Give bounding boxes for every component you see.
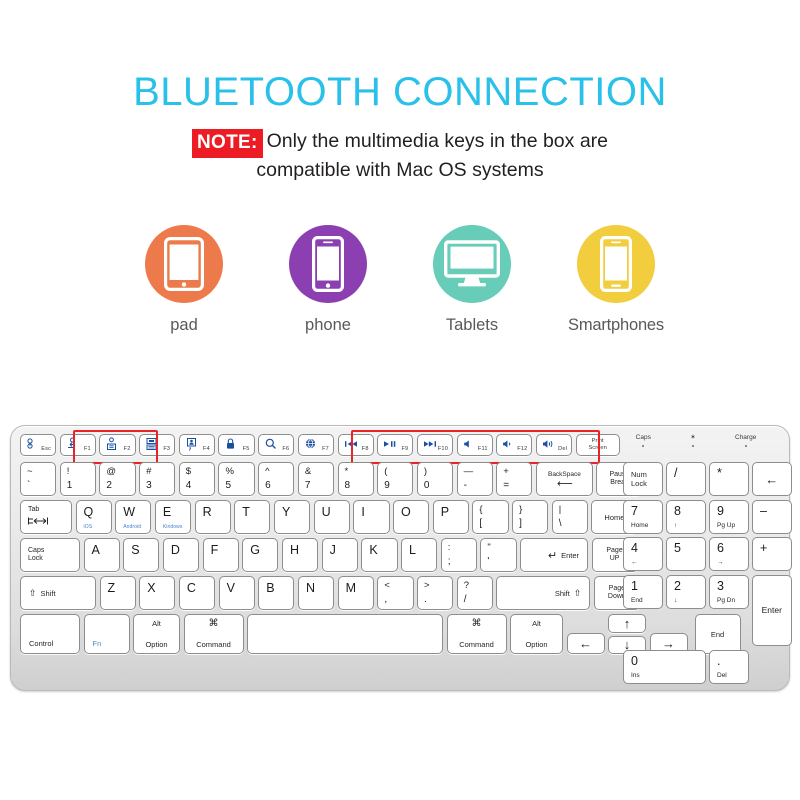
key-command-right[interactable]: ⌘Command bbox=[447, 614, 507, 654]
key-numpad-backspace[interactable]: ← bbox=[752, 462, 792, 496]
key-top-1: ! bbox=[67, 466, 95, 477]
arrow-left-icon: ← bbox=[568, 634, 604, 653]
key-numpad-plus[interactable]: + bbox=[752, 537, 792, 571]
key-numpad-2[interactable]: 2↓ bbox=[666, 575, 706, 609]
key-f5[interactable]: F5 bbox=[218, 434, 254, 456]
shift-arrow-icon-right: ⇧ bbox=[574, 588, 582, 599]
indicator-label-charge: Charge bbox=[735, 434, 756, 442]
key-bottom-slash: / bbox=[464, 594, 492, 609]
backspace-arrow-icon-np: ← bbox=[753, 463, 791, 495]
bluetooth-keyboard: Esc F1 F2 F3 bbox=[10, 425, 790, 691]
key-label-enter: Enter bbox=[561, 551, 579, 560]
key-label-alt-left: Alt bbox=[152, 619, 161, 628]
key-cap-v: V bbox=[220, 577, 254, 609]
key-top-bracket-right: } bbox=[519, 504, 547, 515]
key-numpad-period[interactable]: .Del bbox=[709, 650, 749, 684]
device-item-smartphones: Smartphones bbox=[568, 225, 664, 335]
indicator-label-caps: Caps bbox=[636, 434, 651, 442]
play-pause-icon bbox=[383, 439, 396, 451]
key-backslash[interactable]: |\ bbox=[552, 500, 588, 534]
key-label-command-left: Command bbox=[196, 640, 231, 649]
key-7[interactable]: &7 bbox=[298, 462, 334, 496]
key-u[interactable]: U bbox=[314, 500, 350, 534]
key-label-del: Del bbox=[558, 446, 567, 452]
key-cap-3: 3 bbox=[717, 579, 724, 593]
key-bottom-7: 7 bbox=[305, 480, 333, 495]
key-backtick[interactable]: ~` bbox=[20, 462, 56, 496]
key-label-f9: F9 bbox=[401, 446, 408, 452]
search-icon bbox=[264, 437, 277, 453]
key-backspace[interactable]: BackSpace⟵ bbox=[536, 462, 593, 496]
key-cap-0: 0 bbox=[631, 654, 638, 668]
key-bottom-backtick: ` bbox=[27, 480, 55, 495]
key-cap-y: Y bbox=[275, 501, 309, 533]
key-label-f3: F3 bbox=[163, 446, 170, 452]
key-numpad-enter[interactable]: Enter bbox=[752, 575, 792, 647]
key-top-minus: — bbox=[464, 466, 492, 477]
key-cap-d: D bbox=[164, 539, 198, 571]
key-alt-option-left[interactable]: AltOption bbox=[133, 614, 180, 654]
keyboard-toggle-icon bbox=[145, 437, 158, 453]
key-cap-x: X bbox=[140, 577, 174, 609]
smartphone-icon-disc-2 bbox=[577, 225, 655, 303]
key-top-5: % bbox=[225, 466, 253, 477]
key-sub-ins: Ins bbox=[631, 672, 640, 680]
key-equals[interactable]: += bbox=[496, 462, 532, 496]
key-bottom-0: 0 bbox=[424, 480, 452, 495]
key-cap-b: B bbox=[259, 577, 293, 609]
key-numpad-divide[interactable]: / bbox=[666, 462, 706, 496]
key-top-3: # bbox=[146, 466, 174, 477]
key-label-option-left: Option bbox=[145, 640, 167, 649]
numpad-row-4: 1End 2↓ 3Pg Dn Enter bbox=[623, 575, 792, 647]
key-label-command-right: Command bbox=[459, 640, 494, 649]
key-label-print-line2: Screen bbox=[588, 445, 606, 452]
monitor-icon bbox=[444, 240, 500, 288]
key-bottom-9: 9 bbox=[384, 480, 412, 495]
key-bottom-minus: - bbox=[464, 480, 492, 495]
key-sub-del: Del bbox=[717, 672, 727, 680]
key-cap-2: 2 bbox=[674, 579, 681, 593]
key-cap-h: H bbox=[283, 539, 317, 571]
key-2[interactable]: @2 bbox=[99, 462, 135, 496]
key-cap-i: I bbox=[354, 501, 388, 533]
key-bottom-6: 6 bbox=[265, 480, 293, 495]
key-1[interactable]: !1 bbox=[60, 462, 96, 496]
key-s[interactable]: S bbox=[123, 538, 159, 572]
key-k[interactable]: K bbox=[361, 538, 397, 572]
key-f4[interactable]: F4 bbox=[179, 434, 215, 456]
key-i[interactable]: I bbox=[353, 500, 389, 534]
key-bracket-left[interactable]: {[ bbox=[472, 500, 508, 534]
key-r[interactable]: R bbox=[195, 500, 231, 534]
key-space[interactable] bbox=[247, 614, 443, 654]
key-print-screen[interactable]: Print Screen bbox=[576, 434, 620, 456]
contacts-icon bbox=[185, 437, 198, 453]
key-bottom-equals: = bbox=[503, 480, 531, 495]
key-comma[interactable]: <, bbox=[377, 576, 413, 610]
key-6[interactable]: ^6 bbox=[258, 462, 294, 496]
indicator-charge: Charge bbox=[735, 434, 756, 447]
command-icon-left: ⌘ bbox=[209, 619, 219, 629]
key-cap-n: N bbox=[299, 577, 333, 609]
number-key-row: ~` !1 @2 #3 $4 %5 ^6 &7 *8 (9 )0 —- += B… bbox=[20, 462, 642, 496]
key-cap-q: Q bbox=[77, 501, 111, 533]
key-sub-end: End bbox=[631, 597, 643, 605]
key-label-control: Control bbox=[21, 615, 79, 653]
key-sub-arrow-up: ↑ bbox=[674, 522, 677, 530]
key-z[interactable]: Z bbox=[100, 576, 136, 610]
device-item-phone: phone bbox=[280, 225, 376, 335]
key-top-6: ^ bbox=[265, 466, 293, 477]
key-sub-pgup: Pg Up bbox=[717, 522, 735, 530]
key-sub-ios: iOS bbox=[84, 524, 93, 530]
smartphone-icon-disc bbox=[289, 225, 367, 303]
key-numpad-7[interactable]: 7Home bbox=[623, 500, 663, 534]
key-cap-z: Z bbox=[101, 577, 135, 609]
key-bottom-semicolon: ; bbox=[448, 556, 476, 571]
key-f6[interactable]: F6 bbox=[258, 434, 294, 456]
numpad-row-3: 4← 5 6→ + bbox=[623, 537, 792, 571]
key-cap-r: R bbox=[196, 501, 230, 533]
power-icon bbox=[26, 438, 39, 452]
key-t[interactable]: T bbox=[234, 500, 270, 534]
key-label-f1: F1 bbox=[84, 446, 91, 452]
key-bottom-comma: , bbox=[384, 594, 412, 609]
key-o[interactable]: O bbox=[393, 500, 429, 534]
key-cap-u: U bbox=[315, 501, 349, 533]
product-infographic: BLUETOOTH CONNECTION NOTE:Only the multi… bbox=[0, 0, 800, 800]
key-label-num: Num bbox=[631, 470, 647, 480]
key-label-page: Page bbox=[606, 547, 622, 556]
key-semicolon[interactable]: :; bbox=[441, 538, 477, 572]
smartphone-icon bbox=[312, 236, 344, 292]
key-top-question: ? bbox=[464, 580, 492, 591]
key-bottom-4: 4 bbox=[186, 480, 214, 495]
key-y[interactable]: Y bbox=[274, 500, 310, 534]
key-h[interactable]: H bbox=[282, 538, 318, 572]
home-key-row: CapsLock A S D F G H J K L :; "' ↵ Enter… bbox=[20, 538, 638, 572]
key-esc[interactable]: Esc bbox=[20, 434, 56, 456]
key-top-colon: : bbox=[448, 542, 476, 553]
key-cap-numpad-minus: – bbox=[760, 504, 767, 518]
lock-icon bbox=[224, 437, 237, 453]
key-arrow-left[interactable]: ← bbox=[567, 633, 605, 654]
key-numpad-6[interactable]: 6→ bbox=[709, 537, 749, 571]
key-label-option-right: Option bbox=[525, 640, 547, 649]
device-label-smartphones: Smartphones bbox=[568, 316, 664, 335]
key-c[interactable]: C bbox=[179, 576, 215, 610]
device-item-pad: pad bbox=[136, 225, 232, 335]
key-f7[interactable]: F7 bbox=[298, 434, 334, 456]
key-cap-multiply: * bbox=[717, 466, 722, 480]
key-5[interactable]: %5 bbox=[218, 462, 254, 496]
key-cap-a: A bbox=[85, 539, 119, 571]
key-f3[interactable]: F3 bbox=[139, 434, 175, 456]
note-block: NOTE:Only the multimedia keys in the box… bbox=[0, 128, 800, 183]
key-top-backtick: ~ bbox=[27, 466, 55, 477]
device-item-tablets: Tablets bbox=[424, 225, 520, 335]
key-label-shift-right: Shift bbox=[555, 589, 570, 598]
key-top-0: ) bbox=[424, 466, 452, 477]
indicator-dot-charge bbox=[745, 445, 747, 447]
key-cap-divide: / bbox=[674, 466, 677, 480]
key-bottom-bracket-left: [ bbox=[479, 518, 507, 533]
key-top-lessthan: < bbox=[384, 580, 412, 591]
key-bottom-bracket-right: ] bbox=[519, 518, 547, 533]
device-label-pad: pad bbox=[170, 316, 198, 335]
indicator-caps: Caps bbox=[636, 434, 651, 447]
key-bottom-5: 5 bbox=[225, 480, 253, 495]
globe-icon bbox=[304, 437, 317, 453]
key-f1[interactable]: F1 bbox=[60, 434, 96, 456]
key-top-7: & bbox=[305, 466, 333, 477]
key-del-volume-up[interactable]: Del bbox=[536, 434, 572, 456]
key-bottom-3: 3 bbox=[146, 480, 174, 495]
note-text-1: Only the multimedia keys in the box are bbox=[267, 130, 608, 152]
key-cap-k: K bbox=[362, 539, 396, 571]
numeric-keypad: NumLock / * ← 7Home 8↑ 9Pg Up – 4← 5 6→ … bbox=[623, 462, 792, 687]
volume-mute-icon bbox=[463, 439, 476, 451]
key-cap-c: C bbox=[180, 577, 214, 609]
key-cap-f: F bbox=[204, 539, 238, 571]
key-f8[interactable]: F8 bbox=[338, 434, 374, 456]
key-label-f2: F2 bbox=[124, 446, 131, 452]
key-f[interactable]: F bbox=[203, 538, 239, 572]
key-f2[interactable]: F2 bbox=[99, 434, 135, 456]
app-switch-icon bbox=[105, 437, 118, 453]
key-top-equals: + bbox=[503, 466, 531, 477]
key-numpad-9[interactable]: 9Pg Up bbox=[709, 500, 749, 534]
device-label-phone: phone bbox=[305, 316, 351, 335]
key-label-lock: Lock bbox=[28, 555, 43, 564]
next-track-icon bbox=[423, 439, 436, 451]
key-cap-l: L bbox=[402, 539, 436, 571]
key-g[interactable]: G bbox=[242, 538, 278, 572]
key-label-f6: F6 bbox=[282, 446, 289, 452]
key-cap-plus: + bbox=[760, 541, 767, 555]
command-icon-right: ⌘ bbox=[472, 619, 482, 629]
key-f12[interactable]: F12 bbox=[496, 434, 532, 456]
key-top-greaterthan: > bbox=[424, 580, 452, 591]
shift-key-row: ⇧ Shift Z X C V B N M <, >. ?/ Shift ⇧ P… bbox=[20, 576, 640, 610]
key-l[interactable]: L bbox=[401, 538, 437, 572]
key-label-fn: Fn bbox=[85, 615, 129, 653]
key-label-esc: Esc bbox=[41, 446, 51, 452]
key-enter[interactable]: ↵ Enter bbox=[520, 538, 588, 572]
key-label-f4: F4 bbox=[203, 446, 210, 452]
shift-arrow-icon: ⇧ bbox=[29, 588, 37, 599]
key-label-up: UP bbox=[610, 555, 620, 564]
key-sub-arrow-right: → bbox=[717, 559, 724, 567]
key-n[interactable]: N bbox=[298, 576, 334, 610]
note-badge: NOTE: bbox=[192, 129, 263, 158]
key-cap-j: J bbox=[323, 539, 357, 571]
key-numpad-4[interactable]: 4← bbox=[623, 537, 663, 571]
key-f9[interactable]: F9 bbox=[377, 434, 413, 456]
key-label-caps: Caps bbox=[28, 547, 44, 556]
key-numpad-0[interactable]: 0Ins bbox=[623, 650, 706, 684]
key-b[interactable]: B bbox=[258, 576, 294, 610]
tablet-icon-disc bbox=[145, 225, 223, 303]
key-w[interactable]: WAndroid bbox=[115, 500, 151, 534]
key-numpad-minus[interactable]: – bbox=[752, 500, 792, 534]
key-period[interactable]: >. bbox=[417, 576, 453, 610]
indicator-dot-caps bbox=[642, 445, 644, 447]
key-cap-s: S bbox=[124, 539, 158, 571]
key-bottom-2: 2 bbox=[106, 480, 134, 495]
key-label-f12: F12 bbox=[517, 446, 527, 452]
key-cap-g: G bbox=[243, 539, 277, 571]
key-bottom-1: 1 bbox=[67, 480, 95, 495]
enter-arrow-icon: ↵ bbox=[548, 549, 557, 562]
key-label-f7: F7 bbox=[322, 446, 329, 452]
key-8[interactable]: *8 bbox=[338, 462, 374, 496]
numpad-row-2: 7Home 8↑ 9Pg Up – bbox=[623, 500, 792, 534]
key-top-doublequote: " bbox=[487, 542, 515, 553]
indicator-dot-bluetooth bbox=[692, 445, 694, 447]
function-key-row: Esc F1 F2 F3 bbox=[20, 434, 620, 456]
key-alt-option-right[interactable]: AltOption bbox=[510, 614, 563, 654]
key-shift-left[interactable]: ⇧ Shift bbox=[20, 576, 96, 610]
key-sub-arrow-left: ← bbox=[631, 559, 638, 567]
key-slash[interactable]: ?/ bbox=[457, 576, 493, 610]
key-label-space bbox=[248, 615, 442, 653]
key-shift-right[interactable]: Shift ⇧ bbox=[496, 576, 590, 610]
key-label-f10: F10 bbox=[438, 446, 448, 452]
key-numpad-5[interactable]: 5 bbox=[666, 537, 706, 571]
key-sub-kindows: Kindows bbox=[163, 524, 183, 530]
key-fn[interactable]: Fn bbox=[84, 614, 130, 654]
key-cap-5: 5 bbox=[674, 541, 681, 555]
key-bottom-8: 8 bbox=[345, 480, 373, 495]
key-3[interactable]: #3 bbox=[139, 462, 175, 496]
key-label-lock-np: Lock bbox=[631, 479, 647, 489]
note-line-1: NOTE:Only the multimedia keys in the box… bbox=[0, 128, 800, 157]
volume-down-icon bbox=[502, 439, 515, 451]
numpad-row-1: NumLock / * ← bbox=[623, 462, 792, 496]
key-sub-android: Android bbox=[123, 524, 141, 530]
note-text-2: compatible with Mac OS systems bbox=[0, 157, 800, 183]
key-cap-9: 9 bbox=[717, 504, 724, 518]
key-num-lock[interactable]: NumLock bbox=[623, 462, 663, 496]
key-sub-home: Home bbox=[631, 522, 648, 530]
key-cap-4: 4 bbox=[631, 541, 638, 555]
key-p[interactable]: P bbox=[433, 500, 469, 534]
key-top-9: ( bbox=[384, 466, 412, 477]
key-numpad-1[interactable]: 1End bbox=[623, 575, 663, 609]
key-9[interactable]: (9 bbox=[377, 462, 413, 496]
key-top-bracket-left: { bbox=[479, 504, 507, 515]
key-cap-7: 7 bbox=[631, 504, 638, 518]
key-label-f11: F11 bbox=[478, 446, 488, 452]
key-label-print-line1: Print bbox=[592, 438, 604, 445]
key-caps-lock[interactable]: CapsLock bbox=[20, 538, 80, 572]
device-label-tablets: Tablets bbox=[446, 316, 498, 335]
key-sub-arrow-down: ↓ bbox=[674, 597, 677, 605]
key-v[interactable]: V bbox=[219, 576, 255, 610]
key-f11[interactable]: F11 bbox=[457, 434, 493, 456]
key-cap-period: . bbox=[717, 654, 720, 668]
key-top-2: @ bbox=[106, 466, 134, 477]
key-cap-p: P bbox=[434, 501, 468, 533]
key-quote[interactable]: "' bbox=[480, 538, 516, 572]
key-label-alt-right: Alt bbox=[532, 619, 541, 628]
key-numpad-3[interactable]: 3Pg Dn bbox=[709, 575, 749, 609]
key-bottom-backslash: \ bbox=[559, 518, 587, 533]
key-numpad-multiply[interactable]: * bbox=[709, 462, 749, 496]
key-label-tab: Tab bbox=[28, 506, 39, 515]
previous-track-icon bbox=[344, 439, 357, 451]
key-minus[interactable]: —- bbox=[457, 462, 493, 496]
volume-up-icon bbox=[542, 439, 555, 451]
key-label-f8: F8 bbox=[362, 446, 369, 452]
key-4[interactable]: $4 bbox=[179, 462, 215, 496]
key-top-8: * bbox=[345, 466, 373, 477]
key-cap-6: 6 bbox=[717, 541, 724, 555]
key-label-numpad-enter: Enter bbox=[753, 576, 791, 646]
key-x[interactable]: X bbox=[139, 576, 175, 610]
key-bottom-quote: ' bbox=[487, 556, 515, 571]
key-bracket-right[interactable]: }] bbox=[512, 500, 548, 534]
key-tab[interactable]: Tab bbox=[20, 500, 72, 534]
key-numpad-8[interactable]: 8↑ bbox=[666, 500, 706, 534]
key-d[interactable]: D bbox=[163, 538, 199, 572]
status-indicator-lamps: Caps ✶ Charge bbox=[616, 434, 776, 458]
key-0[interactable]: )0 bbox=[417, 462, 453, 496]
home-back-icon bbox=[66, 437, 79, 453]
key-q[interactable]: QiOS bbox=[76, 500, 112, 534]
page-title: BLUETOOTH CONNECTION bbox=[0, 72, 800, 112]
key-top-pipe: | bbox=[559, 504, 587, 515]
key-label-shift-left: Shift bbox=[41, 589, 56, 598]
smartphone-icon bbox=[600, 236, 632, 292]
key-label-f5: F5 bbox=[243, 446, 250, 452]
tablet-icon bbox=[164, 237, 204, 291]
key-f10[interactable]: F10 bbox=[417, 434, 453, 456]
backspace-arrow-icon: ⟵ bbox=[557, 480, 572, 489]
key-m[interactable]: M bbox=[338, 576, 374, 610]
tab-arrows-icon bbox=[28, 517, 48, 529]
key-a[interactable]: A bbox=[84, 538, 120, 572]
key-j[interactable]: J bbox=[322, 538, 358, 572]
indicator-bluetooth: ✶ bbox=[690, 434, 695, 447]
monitor-icon-disc bbox=[433, 225, 511, 303]
key-sub-pgdn: Pg Dn bbox=[717, 597, 735, 605]
key-cap-t: T bbox=[235, 501, 269, 533]
key-cap-8: 8 bbox=[674, 504, 681, 518]
key-bottom-period: . bbox=[424, 594, 452, 609]
numpad-row-5: 0Ins .Del bbox=[623, 650, 792, 684]
key-cap-m: M bbox=[339, 577, 373, 609]
key-top-4: $ bbox=[186, 466, 214, 477]
key-cap-o: O bbox=[394, 501, 428, 533]
key-command-left[interactable]: ⌘Command bbox=[184, 614, 244, 654]
key-e[interactable]: EKindows bbox=[155, 500, 191, 534]
bluetooth-icon: ✶ bbox=[690, 434, 695, 442]
device-compatibility-list: pad phone Tabl bbox=[0, 225, 800, 335]
key-cap-1: 1 bbox=[631, 579, 638, 593]
qwerty-key-row: Tab QiOS WAndroid EKindows R T Y U I O P… bbox=[20, 500, 637, 534]
key-control[interactable]: Control bbox=[20, 614, 80, 654]
